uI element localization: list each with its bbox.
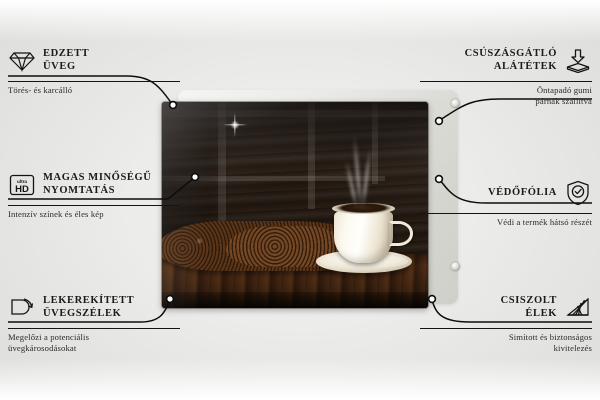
feature-title-line1: CSISZOLT (501, 295, 557, 308)
rounded-corner-icon (8, 294, 36, 322)
pad-stack-arrow-icon (564, 47, 592, 75)
feature-title-line2: ÜVEGSZÉLEK (43, 308, 134, 321)
feature-title-line2: ÜVEG (43, 61, 89, 74)
feature-title: CSISZOLT ÉLEK (501, 295, 557, 321)
feature-title-line1: VÉDŐFÓLIA (488, 187, 557, 200)
feature-title-line1: EDZETT (43, 48, 89, 61)
feature-subtitle-line1: Megelőzi a potenciális (8, 332, 180, 343)
feature-title-line2: NYOMTATÁS (43, 185, 151, 198)
feature-subtitle: Törés- és karcálló (8, 85, 180, 96)
feature-title-line1: MAGAS MINŐSÉGŰ (43, 172, 151, 185)
feature-tempered-glass: EDZETT ÜVEG Törés- és karcálló (8, 44, 180, 96)
feature-title: LEKEREKÍTETT ÜVEGSZÉLEK (43, 295, 134, 321)
feature-header: CSISZOLT ÉLEK (420, 291, 592, 325)
feature-subtitle: Intenzív színek és éles kép (8, 209, 180, 220)
feature-subtitle: Öntapadó gumi párnák szállítva (420, 85, 592, 108)
feature-title: CSÚSZÁSGÁTLÓ ALÁTÉTEK (465, 48, 557, 74)
feature-divider (8, 81, 180, 82)
feature-subtitle-line2: párnák szállítva (420, 96, 592, 107)
feature-header: EDZETT ÜVEG (8, 44, 180, 78)
feature-divider (420, 213, 592, 214)
feature-subtitle-line2: kivitelezés (420, 343, 592, 354)
feature-header: LEKEREKÍTETT ÜVEGSZÉLEK (8, 291, 180, 325)
photo-vignette-top (162, 102, 428, 160)
feature-subtitle: Megelőzi a potenciális üvegkárosodásokat (8, 332, 180, 355)
feature-subtitle: Simított és biztonságos kivitelezés (420, 332, 592, 355)
shield-check-icon (564, 179, 592, 207)
feature-rounded-edges: LEKEREKÍTETT ÜVEGSZÉLEK Megelőzi a poten… (8, 291, 180, 355)
printed-glass-board (162, 102, 428, 308)
feature-title: VÉDŐFÓLIA (488, 187, 557, 200)
feature-divider (420, 81, 592, 82)
feature-subtitle: Védi a termék hátsó részét (420, 217, 592, 228)
feature-hd-print: ultra HD MAGAS MINŐSÉGŰ NYOMTATÁS Intenz… (8, 168, 180, 220)
svg-text:HD: HD (15, 184, 29, 195)
feature-subtitle-line1: Öntapadó gumi (420, 85, 592, 96)
feature-protective-foil: VÉDŐFÓLIA Védi a termék hátsó részét (420, 176, 592, 228)
feature-divider (8, 328, 180, 329)
coffee-photo (162, 102, 428, 308)
infographic-stage: EDZETT ÜVEG Törés- és karcálló ultra HD … (0, 0, 600, 400)
diamond-icon (8, 47, 36, 75)
feature-header: ultra HD MAGAS MINŐSÉGŰ NYOMTATÁS (8, 168, 180, 202)
mounting-screw-bottom-right (451, 262, 460, 271)
feature-title-line2: ÉLEK (501, 308, 557, 321)
feature-title: MAGAS MINŐSÉGŰ NYOMTATÁS (43, 172, 151, 198)
feature-title-line2: ALÁTÉTEK (465, 61, 557, 74)
bottom-fade-overlay (0, 358, 600, 400)
feature-polished-edges: CSISZOLT ÉLEK Simított és bizton (420, 291, 592, 355)
top-fade-overlay (0, 0, 600, 42)
feature-subtitle-line1: Simított és biztonságos (420, 332, 592, 343)
ultra-hd-icon: ultra HD (8, 171, 36, 199)
feature-header: CSÚSZÁSGÁTLÓ ALÁTÉTEK (420, 44, 592, 78)
feature-title-line1: CSÚSZÁSGÁTLÓ (465, 48, 557, 61)
hatched-triangle-icon (564, 294, 592, 322)
feature-title: EDZETT ÜVEG (43, 48, 89, 74)
feature-title-line1: LEKEREKÍTETT (43, 295, 134, 308)
feature-divider (8, 205, 180, 206)
feature-anti-slip-pads: CSÚSZÁSGÁTLÓ ALÁTÉTEK Öntapadó gumi párn… (420, 44, 592, 108)
feature-subtitle-line2: üvegkárosodásokat (8, 343, 180, 354)
feature-divider (420, 328, 592, 329)
feature-header: VÉDŐFÓLIA (420, 176, 592, 210)
coffee-cup (334, 211, 394, 263)
product-image-group (162, 96, 446, 310)
table-front-edge (162, 292, 428, 308)
